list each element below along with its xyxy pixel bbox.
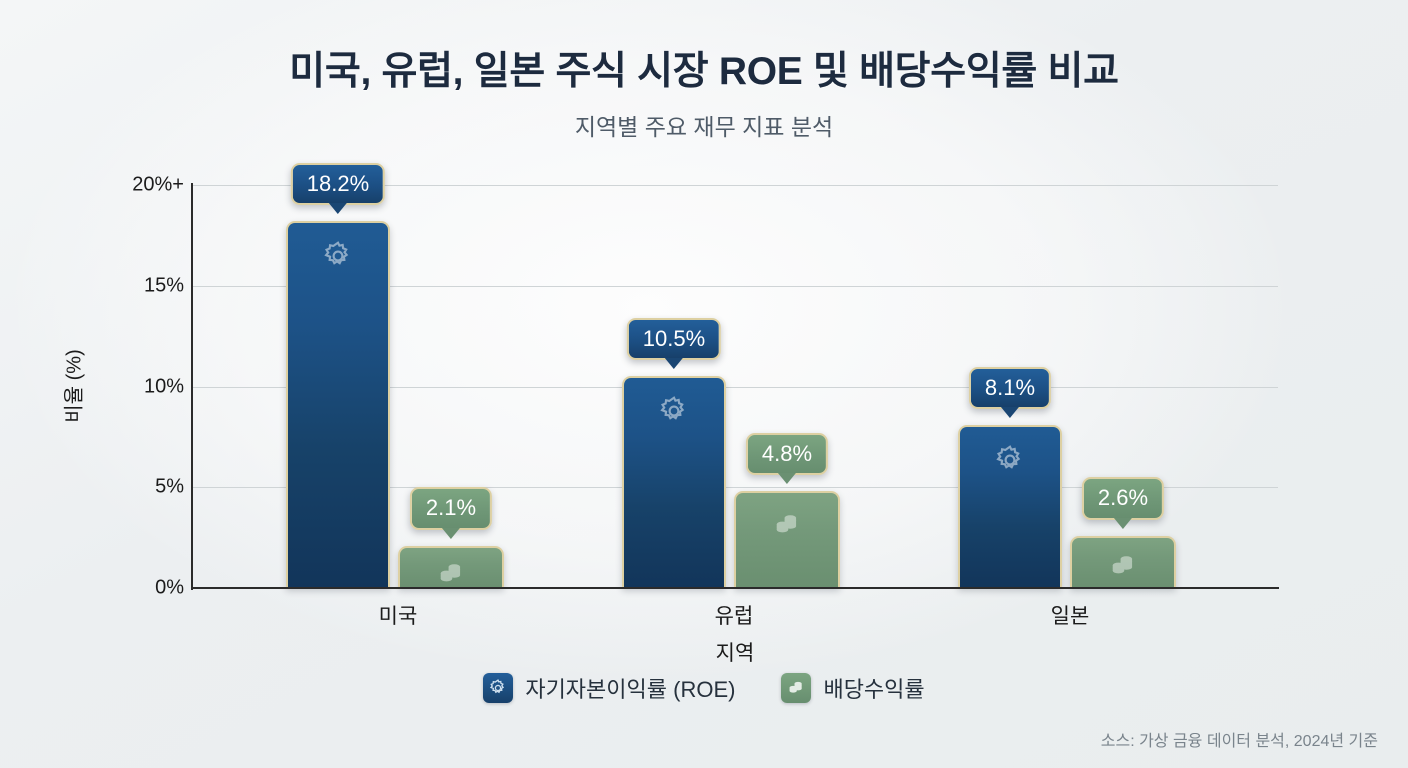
tooltip-tail	[442, 528, 460, 539]
bar-jp-div[interactable]	[1070, 536, 1176, 588]
plot-area: 18.2%	[192, 185, 1278, 588]
x-axis-title: 지역	[716, 637, 755, 667]
coins-icon	[1107, 550, 1139, 587]
page-title: 미국, 유럽, 일본 주식 시장 ROE 및 배당수익률 비교	[0, 40, 1408, 96]
value-label-us-div: 2.1%	[410, 487, 492, 529]
bar-us-div[interactable]	[398, 546, 504, 588]
y-tick-20: 20%+	[74, 174, 184, 197]
y-tick-10: 10%	[74, 375, 184, 398]
tooltip-tail	[665, 358, 683, 369]
legend-swatch-roe	[483, 673, 513, 703]
coins-icon	[435, 558, 467, 588]
legend-item-div[interactable]: 배당수익률	[781, 672, 924, 704]
value-label-eu-div: 4.8%	[746, 433, 828, 475]
value-label-jp-div: 2.6%	[1082, 477, 1164, 519]
value-text: 10.5%	[643, 326, 705, 351]
gear-icon	[993, 443, 1027, 482]
y-tick-0: 0%	[74, 577, 184, 600]
legend-label-roe: 자기자본이익률 (ROE)	[525, 672, 735, 704]
y-axis-line	[191, 183, 193, 590]
source-note: 소스: 가상 금융 데이터 분석, 2024년 기준	[1101, 727, 1378, 751]
legend-swatch-div	[781, 673, 811, 703]
bar-eu-roe[interactable]	[622, 376, 726, 588]
y-tick-15: 15%	[74, 274, 184, 297]
gear-icon	[321, 239, 355, 278]
tooltip-tail	[329, 203, 347, 214]
value-text: 8.1%	[985, 375, 1035, 400]
tooltip-tail	[1001, 407, 1019, 418]
legend: 자기자본이익률 (ROE) 배당수익률	[0, 672, 1408, 704]
x-tick-eu: 유럽	[624, 600, 844, 630]
value-text: 2.1%	[426, 495, 476, 520]
page-subtitle: 지역별 주요 재무 지표 분석	[0, 108, 1408, 142]
tooltip-tail	[1114, 518, 1132, 529]
value-text: 4.8%	[762, 441, 812, 466]
gear-icon	[657, 394, 691, 433]
legend-item-roe[interactable]: 자기자본이익률 (ROE)	[483, 672, 735, 704]
y-axis-title: 비율 (%)	[58, 349, 87, 422]
bar-eu-div[interactable]	[734, 491, 840, 588]
bar-jp-roe[interactable]	[958, 425, 1062, 588]
tooltip-tail	[778, 473, 796, 484]
value-label-eu-roe: 10.5%	[627, 318, 721, 360]
bar-us-roe[interactable]	[286, 221, 390, 588]
x-tick-jp: 일본	[960, 600, 1180, 630]
value-label-jp-roe: 8.1%	[969, 367, 1051, 409]
coins-icon	[771, 509, 803, 546]
x-axis-line	[191, 587, 1279, 589]
y-tick-5: 5%	[74, 476, 184, 499]
chart-canvas: 미국, 유럽, 일본 주식 시장 ROE 및 배당수익률 비교 지역별 주요 재…	[0, 0, 1408, 768]
value-text: 18.2%	[307, 171, 369, 196]
legend-label-div: 배당수익률	[823, 672, 924, 704]
x-tick-us: 미국	[288, 600, 508, 630]
value-label-us-roe: 18.2%	[291, 163, 385, 205]
value-text: 2.6%	[1098, 485, 1148, 510]
